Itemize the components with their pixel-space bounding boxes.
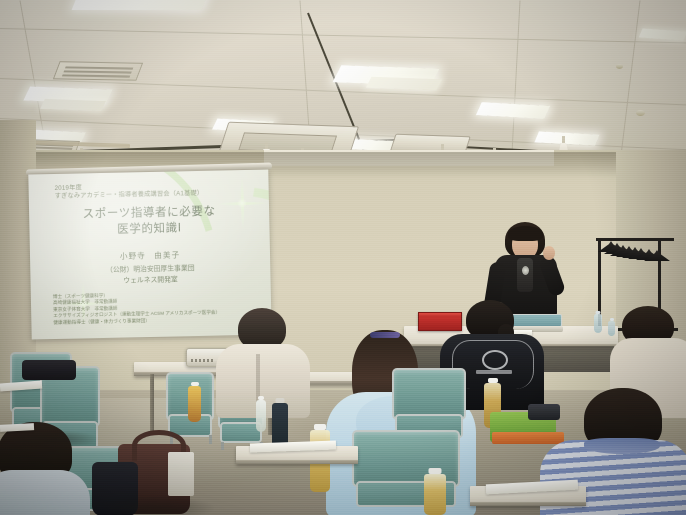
slide-credentials: 博士（スポーツ健康科学） 高崎健康福祉大学 非常勤講師 東京女子体育大学 非常勤… <box>53 291 221 327</box>
presenter-inner-shirt <box>517 258 533 292</box>
slide-header: 2019年度 すぎなみアカデミー・指導者養成講習会（A1基礎） <box>55 182 204 201</box>
presenter-necklace <box>522 266 529 275</box>
ceiling-light-panel <box>72 0 211 10</box>
tea-bottle <box>424 468 446 515</box>
water-bottle <box>256 396 266 432</box>
attendee-top <box>0 470 90 515</box>
coat-on-chair <box>22 360 76 380</box>
slide-header-course: すぎなみアカデミー・指導者養成講習会（A1基礎） <box>55 190 204 201</box>
presenter-fringe <box>508 226 543 241</box>
water-bottle <box>594 311 602 333</box>
smoke-detector-icon <box>636 110 645 116</box>
presenter-right-hand <box>543 246 555 260</box>
attendee-collar <box>584 438 660 454</box>
jersey-text <box>476 370 512 374</box>
tea-bottle <box>188 382 201 422</box>
smoke-detector-icon <box>616 64 623 69</box>
floor-shadow <box>96 496 216 515</box>
left-desk-leg <box>150 374 154 432</box>
jersey-logo <box>482 350 508 370</box>
slide-organization: （公財）明治安田厚生事業団 ウェルネス開発室 <box>30 261 270 288</box>
coat-rack-top-bar <box>596 238 674 241</box>
slide-title: スポーツ指導者に必要な 医学的知識Ⅰ <box>29 203 270 239</box>
bag-paper <box>168 452 194 496</box>
photo-scene: 2019年度 すぎなみアカデミー・指導者養成講習会（A1基礎） スポーツ指導者に… <box>0 0 686 515</box>
floor-shadow <box>10 430 100 448</box>
ceiling-light-panel <box>40 99 106 111</box>
attendee-hairband <box>370 332 400 338</box>
ceiling-air-vent <box>53 61 143 80</box>
